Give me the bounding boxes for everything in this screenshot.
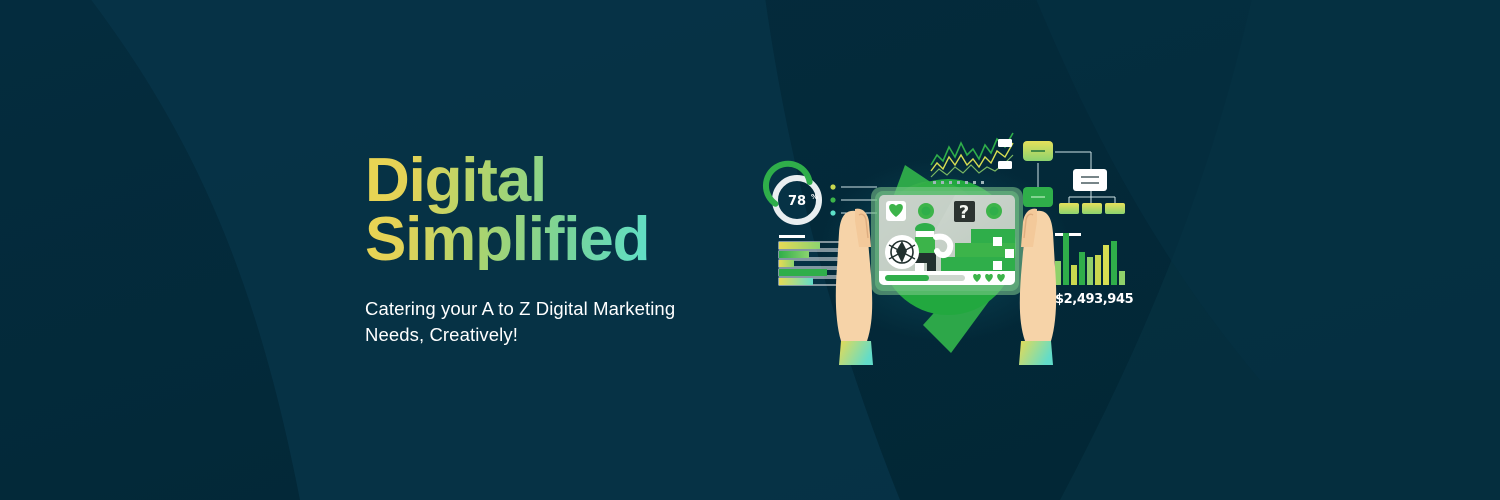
vbar-1 [1055, 261, 1061, 285]
pixel-block-1 [993, 237, 1002, 246]
vbar-2 [1063, 233, 1069, 285]
banner-content: Digital Simplified Catering your A to Z … [0, 0, 1500, 500]
gauge-unit: % [811, 193, 818, 201]
coin-icon-2-inner [990, 207, 999, 216]
vbar-4 [1079, 252, 1085, 285]
flow-leaf-1 [1059, 203, 1079, 214]
vbar-5 [1087, 257, 1093, 285]
tablet-device: ? [871, 187, 1023, 295]
hero-banner: Digital Simplified Catering your A to Z … [0, 0, 1500, 500]
vbar-7 [1103, 245, 1109, 285]
legend-dot-3 [830, 210, 835, 215]
progress-fill [885, 275, 929, 281]
character-brim [916, 231, 934, 237]
platform-3 [941, 257, 1015, 273]
hbar-title [779, 235, 805, 238]
flow-leaf-3 [1105, 203, 1125, 214]
vertical-bar-chart: $2,493,945 [1055, 233, 1134, 307]
org-flowchart [1023, 141, 1125, 214]
right-sleeve-cuff [1019, 341, 1053, 365]
coin-icon-1-inner [922, 207, 931, 216]
horizontal-bar-chart [779, 235, 845, 285]
question-mark-label: ? [959, 202, 969, 223]
left-hand [836, 209, 873, 365]
copy-block: Digital Simplified Catering your A to Z … [365, 152, 695, 348]
pixel-block-2 [1005, 249, 1014, 258]
legend-dot-1 [830, 184, 835, 189]
vbar-9 [1119, 271, 1125, 285]
vbar-3 [1071, 265, 1077, 285]
page-title: Digital Simplified [365, 152, 695, 270]
legend-dot-2 [830, 197, 835, 202]
subtitle: Catering your A to Z Digital Marketing N… [365, 296, 695, 349]
gauge-value: 78 [788, 194, 806, 209]
pixel-block-3 [993, 261, 1002, 270]
vbar-8 [1111, 241, 1117, 285]
flow-leaf-2 [1082, 203, 1102, 214]
vbar-6 [1095, 255, 1101, 285]
game-screen-content: ? [879, 195, 1015, 285]
flow-node-white [1073, 169, 1107, 191]
revenue-value: $2,493,945 [1055, 292, 1134, 307]
gear-ball-icon [885, 235, 919, 269]
illustration: 78 % [755, 125, 1135, 375]
left-sleeve-cuff [839, 341, 873, 365]
right-hand [1019, 209, 1056, 365]
line-chart-tag-top [998, 139, 1012, 147]
line-chart-tag-bottom [998, 161, 1012, 169]
